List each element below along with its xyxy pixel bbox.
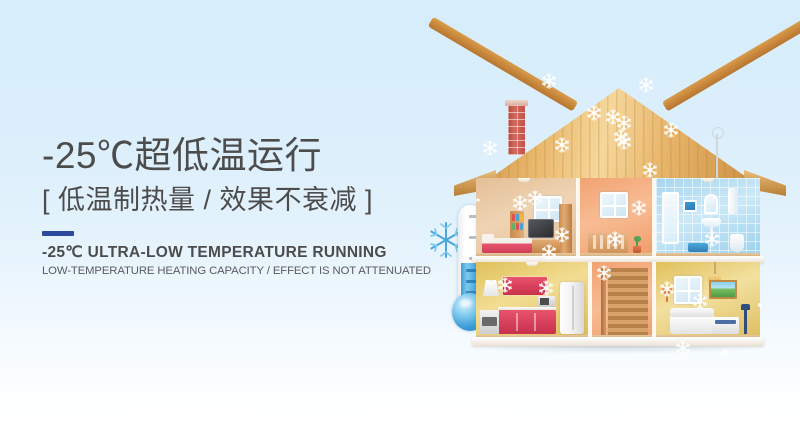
room-nursery (580, 178, 652, 260)
bedroom-tv (528, 219, 554, 238)
crib (588, 233, 628, 253)
roof-antenna (716, 134, 718, 178)
accent-divider (42, 231, 74, 236)
pendant-lamp-icon (714, 262, 716, 274)
roof (460, 78, 780, 183)
air-conditioner-unit (712, 317, 739, 334)
shower-door (662, 192, 679, 244)
bed (482, 238, 532, 253)
bedroom-door (559, 204, 572, 253)
page-title: -25℃超低温运行 (42, 135, 422, 178)
sink (702, 218, 721, 227)
lower-floor (476, 262, 760, 342)
living-room-window (674, 276, 702, 304)
upper-cabinets (502, 276, 548, 296)
microwave (538, 296, 555, 307)
cutaway-house-illustration (460, 78, 780, 356)
floor-lamp (744, 308, 747, 334)
lower-cabinets (498, 310, 556, 334)
upper-floor (476, 178, 760, 260)
room-bedroom (476, 178, 576, 260)
roof-edge-right (662, 17, 800, 112)
chimney (508, 105, 525, 155)
floor-slab-base (472, 337, 764, 346)
water-heater (728, 188, 738, 214)
room-kitchen (476, 262, 588, 342)
nursery-window (600, 192, 628, 218)
staircase (608, 268, 648, 335)
bathroom-cabinet (683, 200, 697, 212)
decor-goblet (662, 288, 672, 302)
promo-banner: -25℃超低温运行 [ 低温制热量 / 效果不衰减 ] -25℃ ULTRA-L… (0, 0, 800, 433)
room-bathroom (656, 178, 760, 260)
range-hood (483, 280, 499, 296)
wall-picture (709, 280, 737, 299)
kitchen-ceiling-lamp-icon (526, 262, 538, 266)
stair-railing (601, 268, 606, 335)
bathroom-mirror (704, 194, 718, 214)
gable-wall (490, 88, 748, 182)
ceiling-lamp-icon (518, 178, 530, 182)
potted-plant (632, 237, 642, 253)
headline-block: -25℃超低温运行 [ 低温制热量 / 效果不衰减 ] -25℃ ULTRA-L… (42, 135, 422, 277)
toilet (730, 234, 744, 252)
page-subtitle: [ 低温制热量 / 效果不衰减 ] (42, 182, 422, 218)
roof-edge-left (428, 17, 578, 112)
sofa (670, 315, 714, 334)
english-subheadline: LOW-TEMPERATURE HEATING CAPACITY / EFFEC… (42, 265, 422, 277)
bath-tub (688, 243, 708, 252)
bookshelf (510, 211, 524, 238)
room-stairwell (592, 262, 652, 342)
room-living-room (656, 262, 760, 342)
english-headline: -25℃ ULTRA-LOW TEMPERATURE RUNNING (42, 243, 422, 262)
bathroom-ceiling-lamp-icon (702, 178, 714, 182)
refrigerator (560, 282, 584, 334)
stove (480, 310, 499, 334)
